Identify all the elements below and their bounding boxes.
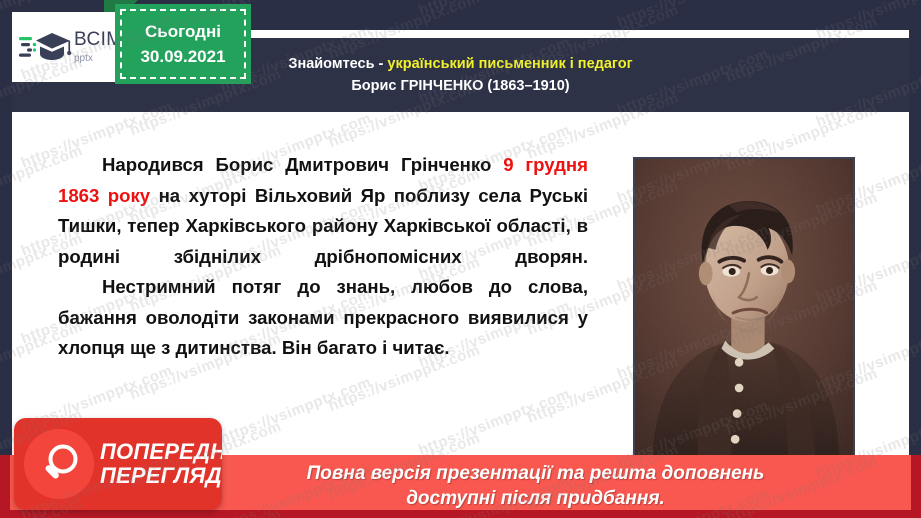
preview-badge[interactable]: ПОПЕРЕДНІЙ ПЕРЕГЛЯД — [14, 418, 222, 510]
banner-line-2: доступні після придбання. — [256, 487, 665, 511]
graduation-cap-icon — [18, 29, 72, 65]
header-highlight-text: український письменник і педагог — [387, 56, 632, 72]
portrait-photo — [633, 157, 855, 460]
today-date: 30.09.2021 — [140, 47, 225, 67]
preview-badge-text: ПОПЕРЕДНІЙ ПЕРЕГЛЯД — [100, 441, 222, 488]
logo-wrap: ВСІМ pptx — [12, 29, 122, 65]
banner-bottom-edge — [0, 510, 921, 518]
logo-subtitle: pptx — [74, 53, 93, 64]
brand-logo[interactable]: ВСІМ pptx — [12, 12, 120, 82]
banner-left-edge — [0, 455, 10, 518]
paragraph-2: Нестримний потяг до знань, любов до слов… — [58, 272, 588, 364]
presentation-slide: https://vsimpptx.comhttps://vsimpptx.com… — [0, 0, 921, 518]
today-date-badge: Сьогодні 30.09.2021 — [115, 4, 251, 84]
magnifier-icon — [24, 429, 94, 499]
banner-line-1: Повна версія презентації та решта доповн… — [157, 462, 765, 486]
preview-badge-line-2: ПЕРЕГЛЯД — [100, 465, 222, 487]
header-intro-text: Знайомтесь - — [288, 56, 387, 72]
today-label: Сьогодні — [145, 22, 221, 42]
slide-body-text: Народився Борис Дмитрович Грінченко 9 гр… — [58, 150, 588, 364]
header-line-2: Борис ГРІНЧЕНКО (1863–1910) — [351, 77, 569, 95]
preview-badge-line-1: ПОПЕРЕДНІЙ — [100, 441, 222, 463]
paragraph-1: Народився Борис Дмитрович Грінченко 9 гр… — [58, 150, 588, 272]
banner-right-edge — [911, 455, 921, 518]
p1-part-a: Народився Борис Дмитрович Грінченко — [102, 154, 503, 175]
header-line-1: Знайомтесь - український письменник і пе… — [288, 55, 632, 73]
